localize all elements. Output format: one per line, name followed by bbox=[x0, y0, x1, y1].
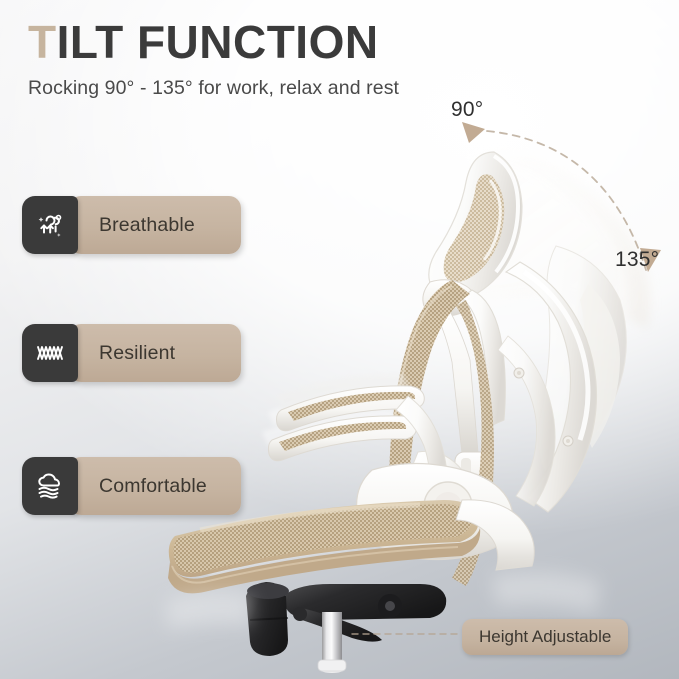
backrest-frame bbox=[462, 262, 597, 512]
page-title-lead-letter: T bbox=[28, 16, 57, 68]
gas-cylinder bbox=[318, 612, 346, 673]
armrest-upper bbox=[277, 386, 425, 431]
lumbar-support bbox=[410, 451, 478, 528]
seat-side-panel bbox=[456, 500, 534, 570]
armrest-lower bbox=[268, 416, 416, 461]
frame-fasteners bbox=[514, 368, 573, 446]
feature-label: Resilient bbox=[99, 342, 175, 365]
height-adjustable-callout: Height Adjustable bbox=[462, 619, 628, 655]
header-block: TILT FUNCTION Rocking 90° - 135° for wor… bbox=[28, 18, 458, 100]
seat-tilt-hub bbox=[357, 463, 513, 559]
armrest-ghosts bbox=[262, 374, 410, 446]
seat-mechanism bbox=[246, 582, 446, 656]
headrest-pivot bbox=[423, 280, 474, 316]
feature-badge-breathable: Breathable bbox=[22, 196, 241, 254]
headrest-stem bbox=[436, 308, 493, 490]
angle-label-start: 90° bbox=[451, 98, 483, 122]
feature-pill-breathable: Breathable bbox=[69, 196, 241, 254]
backrest-mesh-panel bbox=[389, 280, 470, 552]
page-title: TILT FUNCTION bbox=[28, 18, 458, 68]
backrest-ghost-reclined bbox=[538, 246, 626, 478]
page-subtitle: Rocking 90° - 135° for work, relax and r… bbox=[28, 77, 458, 100]
angle-start-arrowhead bbox=[462, 122, 485, 143]
feature-badge-resilient: Resilient bbox=[22, 324, 241, 382]
backrest-mesh-edge bbox=[452, 300, 494, 586]
angle-label-end: 135° bbox=[615, 248, 659, 272]
infographic-canvas: TILT FUNCTION Rocking 90° - 135° for wor… bbox=[0, 0, 679, 679]
armrest-post bbox=[396, 396, 447, 496]
feature-label: Breathable bbox=[99, 214, 195, 237]
feature-badge-comfortable: Comfortable bbox=[22, 457, 241, 515]
cushion-layers-icon bbox=[22, 457, 78, 515]
headrest bbox=[429, 152, 522, 300]
air-circulation-icon bbox=[22, 196, 78, 254]
feature-pill-comfortable: Comfortable bbox=[69, 457, 241, 515]
feature-label: Comfortable bbox=[99, 475, 207, 498]
tilt-motion-ghosts bbox=[452, 149, 651, 330]
spring-coil-icon bbox=[22, 324, 78, 382]
feature-pill-resilient: Resilient bbox=[69, 324, 241, 382]
height-adjustable-label: Height Adjustable bbox=[479, 627, 611, 647]
page-title-rest: ILT FUNCTION bbox=[57, 16, 379, 68]
